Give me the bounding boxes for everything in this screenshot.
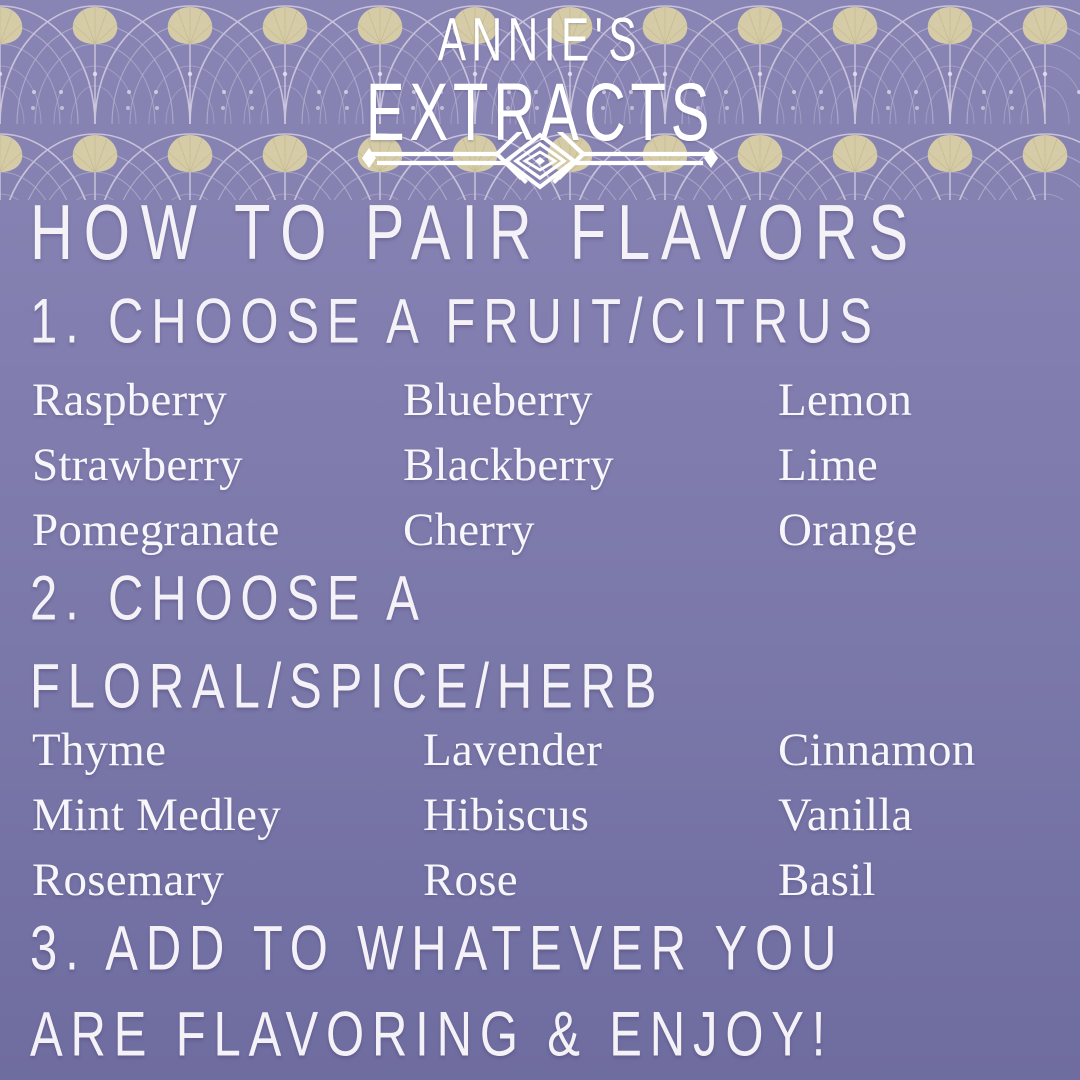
brand-logo: Annie's Extracts bbox=[0, 0, 1080, 196]
step-3-heading-line-2: ARE FLAVORING & ENJOY! bbox=[30, 997, 844, 1070]
option-column: Blueberry Blackberry Cherry bbox=[403, 368, 778, 563]
page-title: HOW TO PAIR FLAVORS bbox=[30, 188, 919, 279]
brand-name-line-1: Annie's bbox=[43, 0, 1037, 72]
option-item[interactable]: Hibiscus bbox=[423, 783, 778, 848]
step-1-heading: 1. CHOOSE A FRUIT/CITRUS bbox=[30, 284, 880, 357]
option-item[interactable]: Cherry bbox=[403, 498, 778, 563]
option-item[interactable]: Rose bbox=[423, 848, 778, 913]
option-item[interactable]: Cinnamon bbox=[778, 718, 1080, 783]
step-3-heading: 3. ADD TO WHATEVER YOU ARE FLAVORING & E… bbox=[30, 912, 844, 1071]
step-3-heading-line-1: 3. ADD TO WHATEVER YOU bbox=[30, 912, 844, 985]
step-2-heading-line-1: 2. CHOOSE A bbox=[30, 561, 664, 634]
option-item[interactable]: Raspberry bbox=[32, 368, 403, 433]
step-2-option-grid: Thyme Mint Medley Rosemary Lavender Hibi… bbox=[0, 718, 1080, 913]
flavor-pairing-poster: Annie's Extracts bbox=[0, 0, 1080, 1080]
option-column: Lavender Hibiscus Rose bbox=[423, 718, 778, 913]
option-item[interactable]: Lemon bbox=[778, 368, 1080, 433]
option-item[interactable]: Vanilla bbox=[778, 783, 1080, 848]
option-item[interactable]: Lavender bbox=[423, 718, 778, 783]
option-item[interactable]: Blackberry bbox=[403, 433, 778, 498]
step-1-option-grid: Raspberry Strawberry Pomegranate Blueber… bbox=[0, 368, 1080, 563]
option-item[interactable]: Lime bbox=[778, 433, 1080, 498]
option-item[interactable]: Pomegranate bbox=[32, 498, 403, 563]
step-2-heading: 2. CHOOSE A FLORAL/SPICE/HERB bbox=[30, 561, 664, 722]
option-item[interactable]: Thyme bbox=[32, 718, 423, 783]
option-item[interactable]: Blueberry bbox=[403, 368, 778, 433]
option-column: Thyme Mint Medley Rosemary bbox=[32, 718, 423, 913]
art-deco-diamond-divider-icon bbox=[357, 132, 723, 192]
option-column: Lemon Lime Orange bbox=[778, 368, 1080, 563]
option-column: Raspberry Strawberry Pomegranate bbox=[32, 368, 403, 563]
option-item[interactable]: Rosemary bbox=[32, 848, 423, 913]
step-2-heading-line-2: FLORAL/SPICE/HERB bbox=[30, 650, 664, 723]
option-item[interactable]: Strawberry bbox=[32, 433, 403, 498]
option-column: Cinnamon Vanilla Basil bbox=[778, 718, 1080, 913]
option-item[interactable]: Basil bbox=[778, 848, 1080, 913]
option-item[interactable]: Orange bbox=[778, 498, 1080, 563]
option-item[interactable]: Mint Medley bbox=[32, 783, 423, 848]
